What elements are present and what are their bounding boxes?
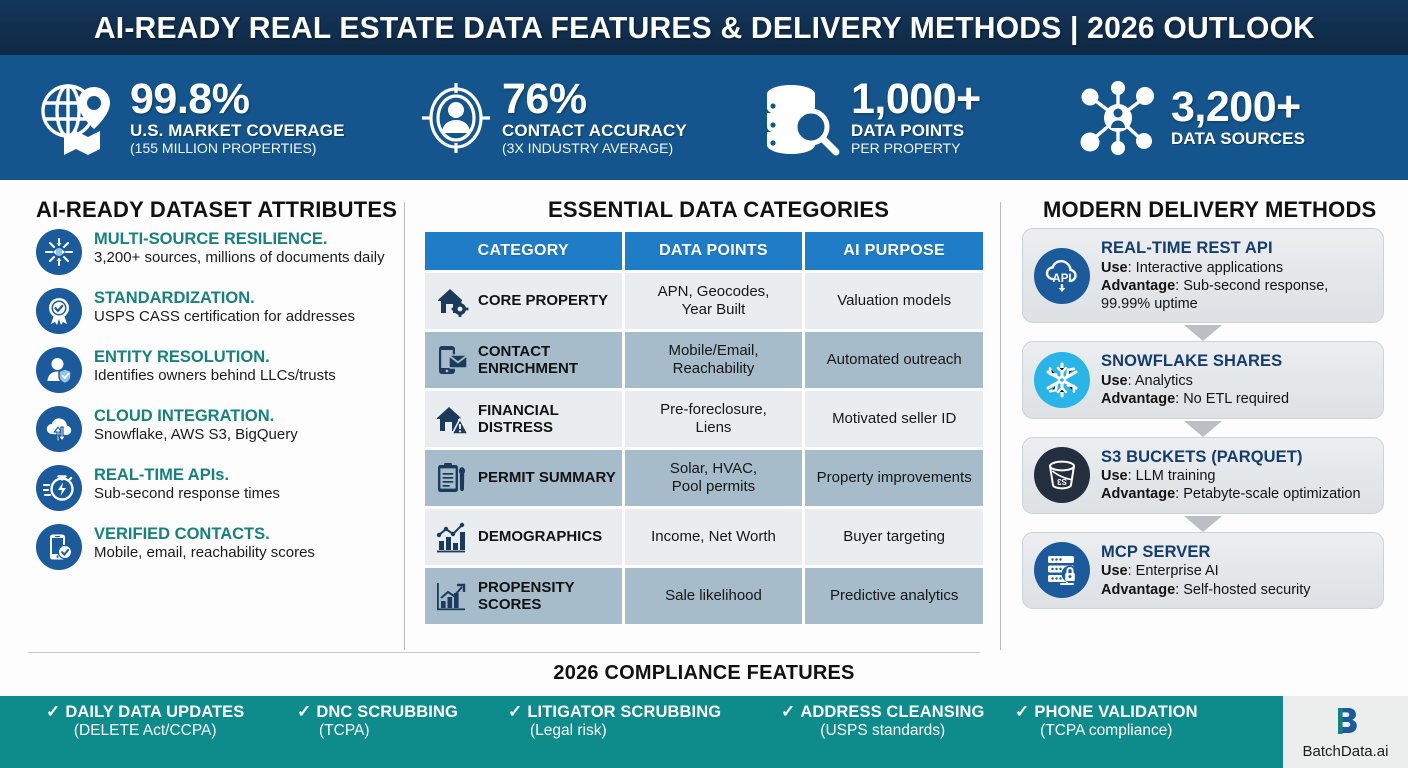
card-advantage: Advantage: Petabyte-scale optimization [1101, 485, 1361, 503]
database-search-icon [757, 80, 841, 156]
converging-arrows-icon [36, 229, 82, 275]
attribute-heading: MULTI-SOURCE RESILIENCE. [94, 229, 385, 249]
table-row: CORE PROPERTY APN, Geocodes,Year Built V… [425, 273, 983, 329]
compliance-item-dnc-scrubbing: ✓DNC SCRUBBING (TCPA) [297, 702, 458, 740]
svg-text:API: API [1052, 273, 1071, 285]
attribute-heading: ENTITY RESOLUTION. [94, 347, 336, 367]
server-lock-icon [1034, 542, 1090, 598]
card-advantage: Advantage: Self-hosted security [1101, 581, 1311, 599]
compliance-label: ✓LITIGATOR SCRUBBING [508, 702, 721, 722]
stat-contact-accuracy: 76% CONTACT ACCURACY (3X INDUSTRY AVERAG… [420, 55, 687, 180]
compliance-sub: (DELETE Act/CCPA) [46, 722, 244, 740]
compliance-sub: (TCPA compliance) [1015, 722, 1198, 740]
right-column-title: MODERN DELIVERY METHODS [1043, 197, 1376, 223]
stopwatch-bolt-icon [36, 465, 82, 511]
attribute-heading: CLOUD INTEGRATION. [94, 406, 298, 426]
compliance-label: ✓ADDRESS CLEANSING [781, 702, 985, 722]
cell-category: PERMIT SUMMARY [425, 450, 622, 506]
clipboard-wrench-icon [433, 459, 471, 497]
column-header-category: CATEGORY [425, 232, 622, 270]
cloud-sync-icon [36, 406, 82, 452]
card-use: Use: LLM training [1101, 467, 1361, 485]
card-heading: REAL-TIME REST API [1101, 238, 1371, 259]
attribute-desc: 3,200+ sources, millions of documents da… [94, 249, 385, 268]
column-header-ai-purpose: AI PURPOSE [805, 232, 983, 270]
infographic-page: AI-READY REAL ESTATE DATA FEATURES & DEL… [0, 0, 1408, 768]
attribute-heading: STANDARDIZATION. [94, 288, 355, 308]
api-cloud-icon: API [1034, 248, 1090, 304]
table-row: CONTACT ENRICHMENT Mobile/Email,Reachabi… [425, 332, 983, 388]
category-label: CORE PROPERTY [478, 292, 608, 309]
stat-label: DATA POINTS [851, 121, 981, 141]
attribute-heading: REAL-TIME APIs. [94, 465, 280, 485]
cell-ai-purpose: Automated outreach [805, 332, 983, 388]
s3-bucket-icon: S3 [1034, 447, 1090, 503]
phone-envelope-icon [433, 341, 471, 379]
cell-ai-purpose: Valuation models [805, 273, 983, 329]
house-gear-icon [433, 282, 471, 320]
compliance-label: ✓DNC SCRUBBING [297, 702, 458, 722]
check-icon: ✓ [781, 702, 795, 721]
cell-category: CORE PROPERTY [425, 273, 622, 329]
card-use: Use: Analytics [1101, 372, 1289, 390]
compliance-label: ✓DAILY DATA UPDATES [46, 702, 244, 722]
title-bar: AI-READY REAL ESTATE DATA FEATURES & DEL… [0, 0, 1408, 55]
delivery-card-s3-buckets: S3 S3 BUCKETS (PARQUET) Use: LLM trainin… [1022, 437, 1384, 514]
cell-category: FINANCIAL DISTRESS [425, 391, 622, 447]
column-header-data-points: DATA POINTS [625, 232, 803, 270]
attribute-item-standardization: STANDARDIZATION. USPS CASS certification… [36, 287, 386, 334]
category-label: CONTACT ENRICHMENT [478, 343, 622, 377]
cell-category: CONTACT ENRICHMENT [425, 332, 622, 388]
page-title: AI-READY REAL ESTATE DATA FEATURES & DEL… [93, 10, 1314, 46]
compliance-sub: (Legal risk) [508, 722, 721, 740]
stat-label: CONTACT ACCURACY [502, 121, 687, 141]
check-icon: ✓ [297, 702, 311, 721]
table-row: PERMIT SUMMARY Solar, HVAC,Pool permits … [425, 450, 983, 506]
flow-arrow-icon [1184, 325, 1222, 341]
attribute-item-verified-contacts: VERIFIED CONTACTS. Mobile, email, reacha… [36, 523, 386, 570]
flow-arrow-icon [1184, 516, 1222, 532]
category-label: PROPENSITY SCORES [478, 579, 622, 613]
delivery-card-mcp-server: MCP SERVER Use: Enterprise AI Advantage:… [1022, 532, 1384, 609]
stat-sublabel: (155 MILLION PROPERTIES) [130, 140, 345, 157]
category-label: FINANCIAL DISTRESS [478, 402, 622, 436]
attribute-desc: Snowflake, AWS S3, BigQuery [94, 426, 298, 445]
cell-ai-purpose: Buyer targeting [805, 509, 983, 565]
card-use: Use: Enterprise AI [1101, 562, 1311, 580]
cell-category: DEMOGRAPHICS [425, 509, 622, 565]
card-heading: MCP SERVER [1101, 542, 1311, 563]
category-label: DEMOGRAPHICS [478, 528, 602, 545]
stat-value: 99.8% [130, 78, 345, 121]
house-alert-icon [433, 400, 471, 438]
attribute-item-real-time-apis: REAL-TIME APIs. Sub-second response time… [36, 464, 386, 511]
brand-name: BatchData.ai [1303, 743, 1389, 760]
attribute-list: MULTI-SOURCE RESILIENCE. 3,200+ sources,… [36, 228, 386, 582]
card-advantage: Advantage: No ETL required [1101, 390, 1289, 408]
stat-sublabel: (3X INDUSTRY AVERAGE) [502, 140, 687, 157]
cell-ai-purpose: Motivated seller ID [805, 391, 983, 447]
stat-value: 1,000+ [851, 78, 981, 121]
compliance-item-phone-validation: ✓PHONE VALIDATION (TCPA compliance) [1015, 702, 1198, 740]
stat-data-sources: 3,200+ DATA SOURCES [1075, 55, 1305, 180]
compliance-sub: (TCPA) [297, 722, 458, 740]
attribute-desc: Mobile, email, reachability scores [94, 544, 315, 563]
left-column-title: AI-READY DATASET ATTRIBUTES [36, 197, 397, 223]
table-row: DEMOGRAPHICS Income, Net Worth Buyer tar… [425, 509, 983, 565]
table-row: PROPENSITY SCORES Sale likelihood Predic… [425, 568, 983, 624]
cell-ai-purpose: Predictive analytics [805, 568, 983, 624]
compliance-sub: (USPS standards) [781, 722, 985, 740]
cell-data-points: Mobile/Email,Reachability [625, 332, 803, 388]
stat-market-coverage: 99.8% U.S. MARKET COVERAGE (155 MILLION … [38, 55, 345, 180]
target-person-icon [420, 81, 492, 155]
attribute-desc: USPS CASS certification for addresses [94, 308, 355, 327]
compliance-item-daily-data-updates: ✓DAILY DATA UPDATES (DELETE Act/CCPA) [46, 702, 244, 740]
stat-label: DATA SOURCES [1171, 129, 1305, 149]
delivery-card-rest-api: API REAL-TIME REST API Use: Interactive … [1022, 228, 1384, 323]
center-column-title: ESSENTIAL DATA CATEGORIES [548, 197, 889, 223]
attribute-item-multi-source-resilience: MULTI-SOURCE RESILIENCE. 3,200+ sources,… [36, 228, 386, 275]
cell-data-points: Sale likelihood [625, 568, 803, 624]
card-heading: S3 BUCKETS (PARQUET) [1101, 447, 1361, 468]
attribute-desc: Sub-second response times [94, 485, 280, 504]
batchdata-b-logo [1329, 705, 1363, 742]
body-columns: AI-READY DATASET ATTRIBUTES [0, 180, 1408, 650]
attribute-item-cloud-integration: CLOUD INTEGRATION. Snowflake, AWS S3, Bi… [36, 405, 386, 452]
cell-data-points: Solar, HVAC,Pool permits [625, 450, 803, 506]
snowflake-icon [1034, 352, 1090, 408]
brand-logo-block: BatchData.ai [1283, 696, 1408, 768]
bar-chart-line-icon [433, 518, 471, 556]
flow-arrow-icon [1184, 421, 1222, 437]
check-icon: ✓ [46, 702, 60, 721]
svg-text:S3: S3 [1057, 477, 1067, 486]
card-use: Use: Interactive applications [1101, 259, 1371, 277]
delivery-card-snowflake: SNOWFLAKE SHARES Use: Analytics Advantag… [1022, 341, 1384, 418]
stat-value: 76% [502, 78, 687, 121]
table-header-row: CATEGORY DATA POINTS AI PURPOSE [425, 232, 983, 270]
bar-chart-arrow-icon [433, 577, 471, 615]
compliance-title: 2026 COMPLIANCE FEATURES [0, 662, 1408, 685]
compliance-item-address-cleansing: ✓ADDRESS CLEANSING (USPS standards) [781, 702, 985, 740]
attribute-item-entity-resolution: ENTITY RESOLUTION. Identifies owners beh… [36, 346, 386, 393]
cell-data-points: Pre-foreclosure,Liens [625, 391, 803, 447]
column-divider-left [404, 202, 405, 650]
card-heading: SNOWFLAKE SHARES [1101, 351, 1289, 372]
stat-value: 3,200+ [1171, 86, 1305, 129]
category-label: PERMIT SUMMARY [478, 469, 616, 486]
table-row: FINANCIAL DISTRESS Pre-foreclosure,Liens… [425, 391, 983, 447]
attribute-heading: VERIFIED CONTACTS. [94, 524, 315, 544]
delivery-method-cards: API REAL-TIME REST API Use: Interactive … [1022, 228, 1384, 611]
attribute-desc: Identifies owners behind LLCs/trusts [94, 367, 336, 386]
check-icon: ✓ [508, 702, 522, 721]
card-advantage: Advantage: Sub-second response, 99.99% u… [1101, 277, 1371, 314]
column-divider-right [1000, 202, 1001, 650]
cell-category: PROPENSITY SCORES [425, 568, 622, 624]
person-shield-icon [36, 347, 82, 393]
award-check-icon [36, 288, 82, 334]
compliance-label: ✓PHONE VALIDATION [1015, 702, 1198, 722]
phone-check-icon [36, 524, 82, 570]
globe-map-pin-icon [38, 81, 120, 155]
stat-sublabel: PER PROPERTY [851, 140, 981, 157]
cell-ai-purpose: Property improvements [805, 450, 983, 506]
cell-data-points: APN, Geocodes,Year Built [625, 273, 803, 329]
data-categories-table: CATEGORY DATA POINTS AI PURPOSE [425, 232, 983, 627]
stat-data-points: 1,000+ DATA POINTS PER PROPERTY [757, 55, 981, 180]
cell-data-points: Income, Net Worth [625, 509, 803, 565]
check-icon: ✓ [1015, 702, 1029, 721]
compliance-item-litigator-scrubbing: ✓LITIGATOR SCRUBBING (Legal risk) [508, 702, 721, 740]
section-divider [28, 652, 980, 653]
network-nodes-icon [1075, 80, 1161, 156]
stat-label: U.S. MARKET COVERAGE [130, 121, 345, 141]
